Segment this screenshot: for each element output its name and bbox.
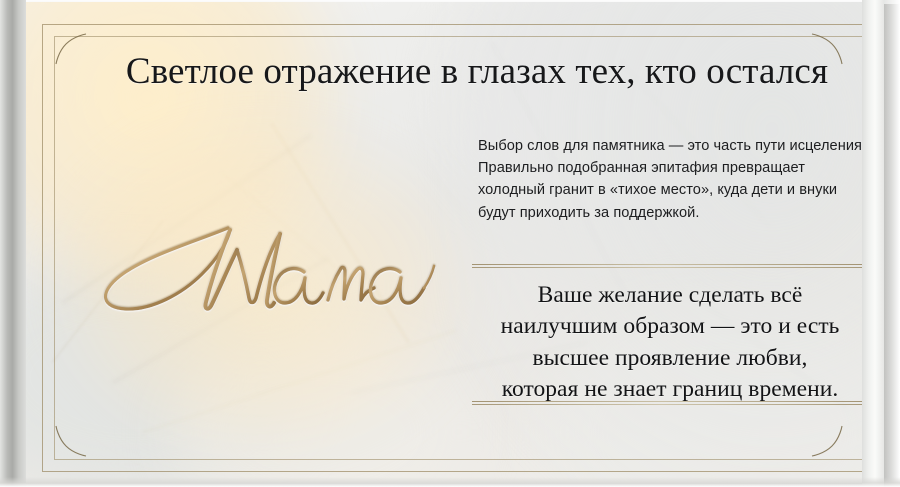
quote-line: высшее проявление любви,: [472, 343, 868, 374]
page-title: Светлое отражение в глазах тех, кто оста…: [82, 50, 870, 94]
quote-line: Ваше желание сделать всё: [472, 280, 868, 311]
quote-block: Ваше желание сделать всё наилучшим образ…: [472, 280, 868, 405]
body-paragraph: Выбор слов для памятника — это часть пут…: [478, 135, 868, 224]
divider-below-quote: [472, 401, 868, 406]
slab-edge-left: [0, 0, 26, 487]
marble-face: Светлое отражение в глазах тех, кто оста…: [22, 2, 870, 483]
slab-edge-bottom: [0, 477, 900, 487]
slab-edge-right-shadow: [884, 4, 900, 487]
memorial-plaque-image: Светлое отражение в глазах тех, кто оста…: [0, 0, 900, 487]
quote-line: наилучшим образом — это и есть: [472, 311, 868, 342]
divider-above-quote: [472, 264, 868, 269]
